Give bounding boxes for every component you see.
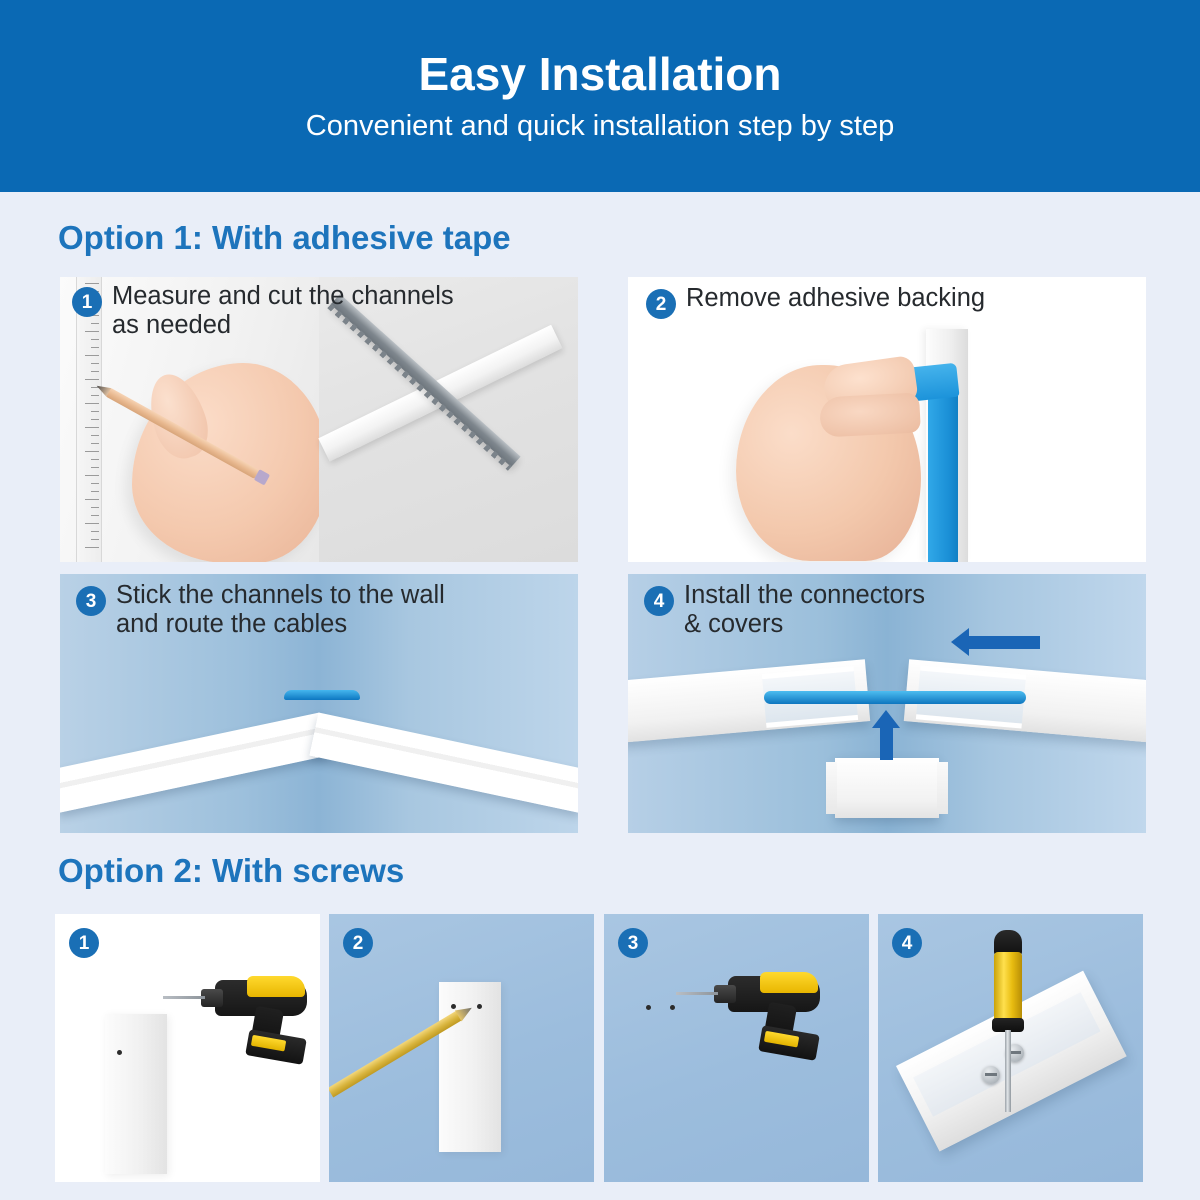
step-caption-2: Remove adhesive backing [686,284,985,313]
adhesive-liner-strip [928,385,958,562]
cable-channel [105,1014,167,1174]
step-badge-3: 3 [76,586,106,616]
screw-step-panel-4: 4 [878,914,1143,1182]
screwdriver-icon [990,930,1026,1130]
step-panel-3: 3 Stick the channels to the wall and rou… [60,574,578,833]
step-caption-1: Measure and cut the channels as needed [112,282,454,339]
section-title-option-1: Option 1: With adhesive tape [58,219,511,257]
scene-drill-holes-in-channel [55,914,320,1182]
arrow-left-icon [968,636,1040,649]
wall-hole-1 [646,1005,651,1010]
scene-fasten-screws [878,914,1143,1182]
page-header: Easy Installation Convenient and quick i… [0,0,1200,192]
scene-drill-holes-in-wall [604,914,869,1182]
screw-step-panel-3: 3 [604,914,869,1182]
step-badge-1: 1 [72,287,102,317]
step-badge-4: 4 [644,586,674,616]
screw-step-panel-1: 1 [55,914,320,1182]
drill-icon [708,972,820,1038]
blue-cable [764,691,1026,704]
step-panel-4: 4 Install the connectors & covers [628,574,1146,833]
step-panel-2: 2 Remove adhesive backing [628,277,1146,562]
drill-icon [195,976,307,1042]
pencil-mark-2 [477,1004,482,1009]
page-title: Easy Installation [418,49,781,100]
scene-mark-hole-positions [329,914,594,1182]
blue-cable-corner [284,690,360,700]
screw-step-panel-2: 2 [329,914,594,1182]
wall-hole-2 [670,1005,675,1010]
drill-mark [117,1050,122,1055]
infographic-page: Easy Installation Convenient and quick i… [0,0,1200,1200]
step-badge-8: 4 [892,928,922,958]
page-subtitle: Convenient and quick installation step b… [306,111,894,143]
thumb-illustration [819,392,921,437]
ruler-icon [76,277,102,562]
step-badge-2: 2 [646,289,676,319]
step-panel-1: 1 Measure and cut the channels as needed [60,277,578,562]
step-badge-7: 3 [618,928,648,958]
corner-connector-cover [835,758,939,818]
scene-remove-adhesive-backing [628,277,1146,562]
pencil-mark-1 [451,1004,456,1009]
section-title-option-2: Option 2: With screws [58,852,404,890]
step-badge-6: 2 [343,928,373,958]
step-caption-3: Stick the channels to the wall and route… [116,581,445,638]
step-caption-4: Install the connectors & covers [684,581,925,638]
cable-channel [439,982,501,1152]
arrow-up-icon [880,726,893,760]
step-badge-5: 1 [69,928,99,958]
